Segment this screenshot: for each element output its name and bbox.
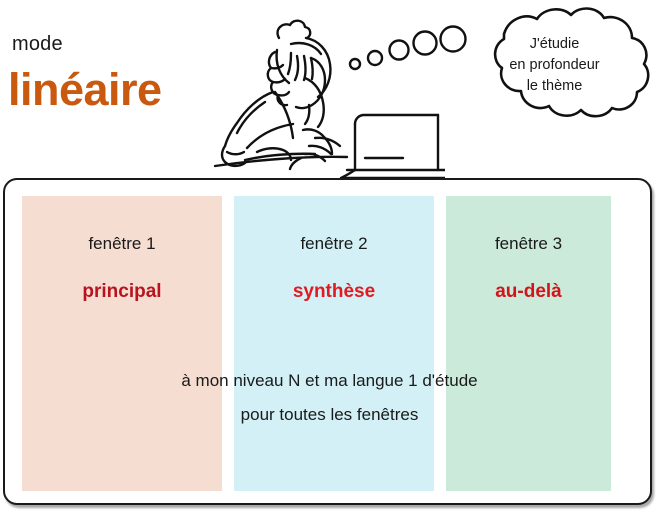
window-column-1-title: fenêtre 1 xyxy=(22,234,222,254)
window-column-1-value: principal xyxy=(22,281,222,303)
window-column-3-value: au-delà xyxy=(446,281,611,303)
mode-label: mode xyxy=(12,33,63,55)
window-column-3-title: fenêtre 3 xyxy=(446,234,611,254)
thought-line-1: J'étudie xyxy=(452,34,657,55)
mode-value: linéaire xyxy=(8,63,162,117)
thought-cloud-icon: J'étudie en profondeur le thème xyxy=(452,4,657,129)
windows-panel: fenêtre 1 principal fenêtre 2 synthèse f… xyxy=(3,178,652,505)
window-column-3[interactable]: fenêtre 3 au-delà xyxy=(446,196,611,491)
thought-line-2: en profondeur xyxy=(452,55,657,76)
thought-line-3: le thème xyxy=(452,76,657,97)
header-zone: mode linéaire xyxy=(0,0,659,178)
window-column-2-title: fenêtre 2 xyxy=(234,234,434,254)
window-column-1[interactable]: fenêtre 1 principal xyxy=(22,196,222,491)
thought-bubble-text: J'étudie en profondeur le thème xyxy=(452,34,657,97)
window-column-2-value: synthèse xyxy=(234,281,434,303)
window-column-2[interactable]: fenêtre 2 synthèse xyxy=(234,196,434,491)
